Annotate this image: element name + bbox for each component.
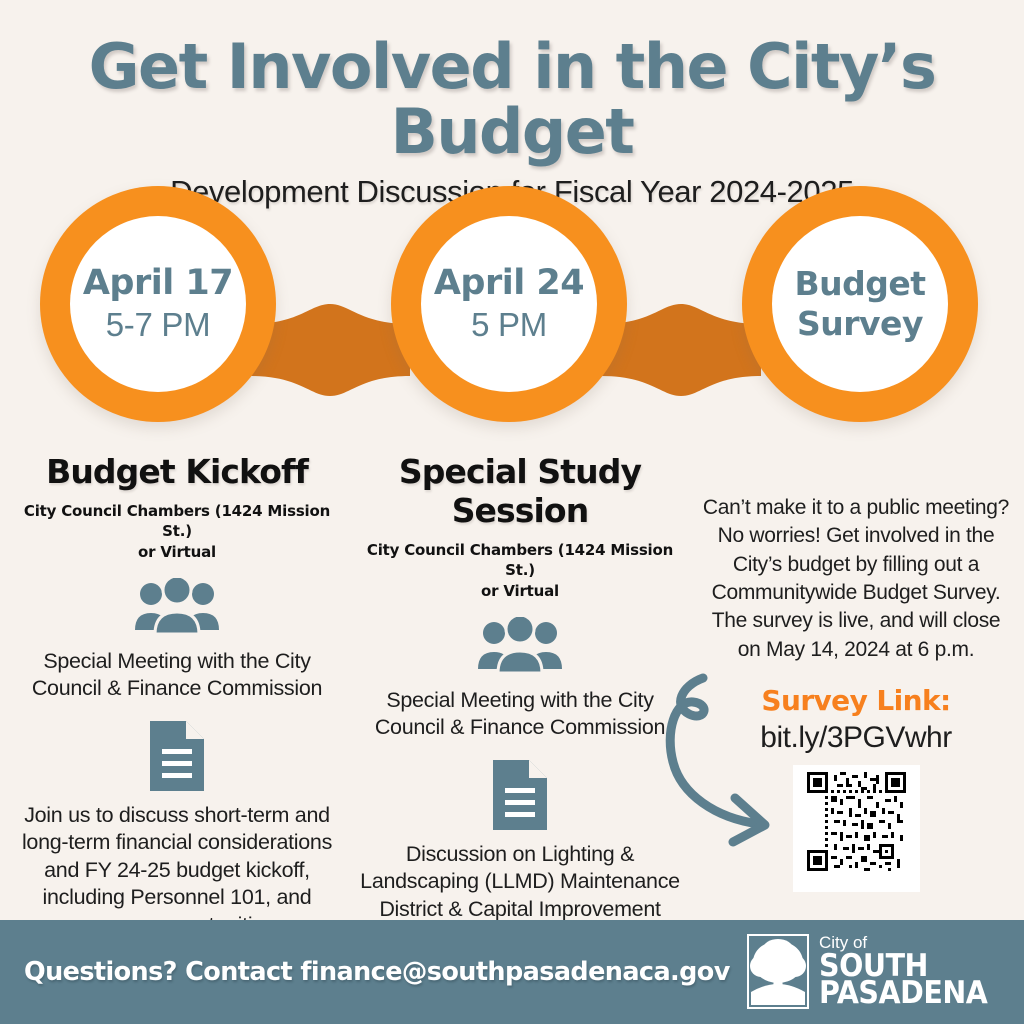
budget-kickoff-venue: City Council Chambers (1424 Mission St.)… <box>12 501 342 562</box>
column-budget-kickoff: Budget Kickoff City Council Chambers (14… <box>12 452 342 939</box>
page-title: Get Involved in the City’s Budget <box>0 0 1024 164</box>
document-icon <box>146 719 208 793</box>
logo-wordmark: City of SOUTH PASADENA <box>819 934 1002 1007</box>
logo-line-pasadena: PASADENA <box>819 980 987 1007</box>
detail-columns: Budget Kickoff City Council Chambers (14… <box>0 452 1024 912</box>
qr-code-matrix <box>807 772 906 871</box>
timeline-step-3-title-line2: Survey <box>797 304 923 344</box>
people-group-icon <box>131 578 223 636</box>
budget-kickoff-people-icon-wrap <box>12 578 342 636</box>
timeline-step-3-inner: Budget Survey <box>772 216 948 392</box>
footer: Questions? Contact finance@southpasadena… <box>0 920 1024 1024</box>
special-study-session-people-icon-wrap <box>352 617 688 675</box>
special-study-session-meeting-text: Special Meeting with the City Council & … <box>352 687 688 742</box>
timeline-step-2-date: April 24 <box>434 264 584 303</box>
special-study-session-title: Special Study Session <box>352 452 688 530</box>
column-special-study-session: Special Study Session City Council Chamb… <box>352 452 688 951</box>
oak-tree-shape <box>749 936 807 1007</box>
budget-kickoff-meeting-text: Special Meeting with the City Council & … <box>12 648 342 703</box>
budget-kickoff-title: Budget Kickoff <box>12 452 342 491</box>
timeline-step-2-inner: April 24 5 PM <box>421 216 597 392</box>
qr-code-icon[interactable] <box>793 765 920 892</box>
timeline-step-1-date: April 17 <box>83 264 233 303</box>
timeline-step-3[interactable]: Budget Survey <box>742 186 978 422</box>
timeline-step-2-time: 5 PM <box>471 307 547 344</box>
timeline-step-2[interactable]: April 24 5 PM <box>391 186 627 422</box>
budget-kickoff-document-icon-wrap <box>12 719 342 793</box>
budget-survey-text: Can’t make it to a public meeting? No wo… <box>700 494 1012 664</box>
timeline-circles: April 17 5-7 PM April 24 5 PM Budget Sur… <box>0 176 1024 446</box>
curved-arrow-icon <box>663 672 793 852</box>
people-group-icon <box>474 617 566 675</box>
footer-contact[interactable]: Questions? Contact finance@southpasadena… <box>24 957 730 987</box>
special-study-session-document-icon-wrap <box>352 758 688 832</box>
budget-kickoff-description: Join us to discuss short-term and long-t… <box>12 802 342 940</box>
oak-tree-icon <box>747 934 809 1009</box>
timeline-step-1-inner: April 17 5-7 PM <box>70 216 246 392</box>
timeline-step-3-title-line1: Budget <box>794 264 925 304</box>
document-icon <box>489 758 551 832</box>
timeline-step-1[interactable]: April 17 5-7 PM <box>40 186 276 422</box>
timeline-step-1-time: 5-7 PM <box>106 307 211 344</box>
city-logo: City of SOUTH PASADENA <box>747 934 1002 1009</box>
curved-arrow-wrap <box>663 672 793 852</box>
special-study-session-venue: City Council Chambers (1424 Mission St.)… <box>352 540 688 601</box>
